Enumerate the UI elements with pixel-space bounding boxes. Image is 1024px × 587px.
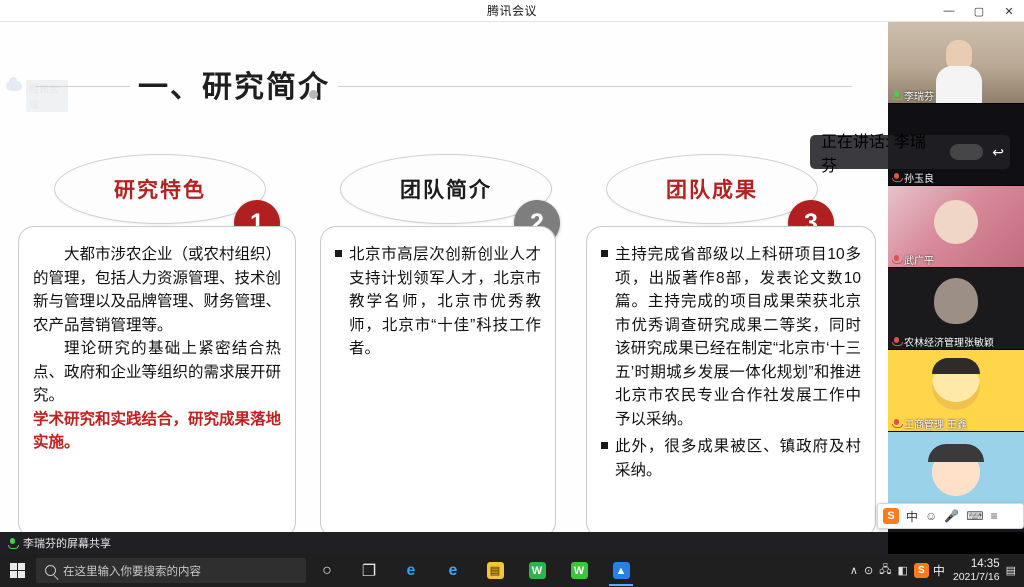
tencent-meeting-glyph: ▲ [613,562,630,579]
column-2-card: 北京市高层次创新创业人才支持计划领军人才，北京市教学名师，北京市优秀教师，北京市… [320,226,556,532]
wechat-glyph: W [571,562,588,579]
tray-ime-mode[interactable]: 中 [933,562,945,579]
speaking-indicator-toast[interactable]: 正在讲话: 李瑞芬 ↩ [810,135,1010,169]
ime-menu-icon[interactable]: ≡ [991,509,998,523]
participant-name-bar-5: 工商管理 王鑫 [888,416,971,431]
back-arrow-icon[interactable]: ↩ [992,144,1004,161]
task-view-glyph: ❐ [362,561,376,581]
column-1-paragraph-3: 学术研究和实践结合，研究成果落地实施。 [33,408,281,455]
close-button[interactable]: ✕ [994,0,1024,22]
bullet-square-icon [601,243,615,431]
screen-share-status-text: 李瑞芬的屏幕共享 [23,535,111,551]
heading-dot-icon [309,90,318,99]
taskbar-clock[interactable]: 14:35 2021/7/16 [953,557,1000,585]
column-3-bubble: 团队成果 [606,154,818,224]
ime-voice-icon[interactable]: 🎤 [944,509,959,523]
audio-wave-icon [950,144,983,160]
slide-heading-text: 一、研究简介 [130,62,338,106]
tray-overflow-icon[interactable]: ∧ [850,564,858,577]
window-title: 腾讯会议 [487,2,537,19]
sogou-logo-icon[interactable]: S [883,508,899,524]
ime-mode-label[interactable]: 中 [906,508,918,525]
edge-legacy-icon[interactable]: e [390,554,432,587]
screen-share-status-bar: 李瑞芬的屏幕共享 [0,532,888,554]
mic-icon [892,91,901,100]
tray-sogou-icon[interactable]: S [914,563,929,578]
participant-name-bar-4: 农林经济管理张敏颖 [888,334,998,349]
column-1-paragraph-1: 大都市涉农企业（或农村组织）的管理，包括人力资源管理、技术创新与管理以及品牌管理… [33,243,281,337]
cortana-icon[interactable]: ○ [306,554,348,587]
slide-heading: 一、研究简介 [0,62,888,106]
cortana-glyph: ○ [322,562,332,580]
column-1-card: 大都市涉农企业（或农村组织）的管理，包括人力资源管理、技术创新与管理以及品牌管理… [18,226,296,532]
participant-tile-4[interactable]: 农林经济管理张敏颖 [888,268,1024,350]
file-explorer-icon[interactable]: ▤ [474,554,516,587]
column-2-title: 团队简介 [400,174,492,204]
clock-time: 14:35 [971,557,1000,571]
ime-keyboard-icon[interactable]: ⌨ [966,509,983,523]
participant-name-3: 武广平 [904,252,934,267]
participant-tile-1[interactable]: 李瑞芬 [888,22,1024,104]
column-2-bullet-1-text: 北京市高层次创新创业人才支持计划领军人才，北京市教学名师，北京市优秀教师，北京市… [349,243,541,361]
participant-name-5: 工商管理 王鑫 [904,416,967,431]
ime-emoji-icon[interactable]: ☺ [925,509,937,523]
window-title-bar: 腾讯会议 — ▢ ✕ [0,0,1024,22]
wechat-icon[interactable]: W [558,554,600,587]
tencent-meeting-icon[interactable]: ▲ [600,554,642,587]
tray-ime-indicator[interactable]: S 中 [914,562,945,579]
task-view-icon[interactable]: ❐ [348,554,390,587]
mic-green-icon [8,538,18,549]
tray-volume-icon[interactable]: ◧ [897,564,907,577]
column-3-bullet-1-text: 主持完成省部级以上科研项目10多项，出版著作8部，发表论文数10篇。主持完成的项… [615,243,861,431]
column-3-title: 团队成果 [666,174,758,204]
participant-name-bar-3: 武广平 [888,252,938,267]
participant-video-6 [888,432,1024,513]
taskbar-search-placeholder: 在这里输入你要搜索的内容 [63,563,201,579]
edge-legacy-glyph: e [407,562,416,580]
column-3-bullet-2-text: 此外，很多成果被区、镇政府及村采纳。 [615,435,861,482]
wps-icon[interactable]: W [516,554,558,587]
participant-tile-3[interactable]: 武广平 [888,186,1024,268]
bullet-square-icon [335,243,349,361]
participants-panel: 李瑞芬 孙玉良 武广平 农林经济管理张敏颖 [888,22,1024,532]
column-3-bullet-1: 主持完成省部级以上科研项目10多项，出版著作8部，发表论文数10篇。主持完成的项… [601,243,861,431]
speaking-indicator-text: 正在讲话: 李瑞芬 [821,128,940,176]
column-2-bullet-1: 北京市高层次创新创业人才支持计划领军人才，北京市教学名师，北京市优秀教师，北京市… [335,243,541,361]
column-1-paragraph-2: 理论研究的基础上紧密结合热点、政府和企业等组织的需求展开研究。 [33,337,281,408]
file-explorer-glyph: ▤ [487,562,504,579]
column-3-card: 主持完成省部级以上科研项目10多项，出版著作8部，发表论文数10篇。主持完成的项… [586,226,876,532]
participant-name-1: 李瑞芬 [904,88,934,103]
participant-name-4: 农林经济管理张敏颖 [904,334,994,349]
column-3-bullet-2: 此外，很多成果被区、镇政府及村采纳。 [601,435,861,482]
slide-column-2: 团队简介 2 北京市高层次创新创业人才支持计划领军人才，北京市教学名师，北京市优… [312,154,592,532]
presentation-slide: 腾讯会议 一、研究简介 研究特色 1 大都市涉农企业（或农村组织）的管理，包括人… [0,22,888,532]
slide-column-3: 团队成果 3 主持完成省部级以上科研项目10多项，出版著作8部，发表论文数10篇… [578,154,858,532]
bullet-square-icon [601,435,615,482]
windows-start-icon[interactable] [0,554,34,587]
column-1-title: 研究特色 [114,174,206,204]
tray-network-icon[interactable]: 🖧 [879,561,891,580]
tray-cloud-icon[interactable]: ⊙ [864,564,873,577]
system-tray: ∧ ⊙ 🖧 ◧ S 中 14:35 2021/7/16 ▤ [850,554,1024,587]
column-1-bubble: 研究特色 [54,154,266,224]
minimize-button[interactable]: — [934,0,964,22]
clock-date: 2021/7/16 [953,571,1000,584]
shared-screen-stage: 腾讯会议 一、研究简介 研究特色 1 大都市涉农企业（或农村组织）的管理，包括人… [0,22,888,532]
taskbar-search-input[interactable]: 在这里输入你要搜索的内容 [36,558,306,583]
participant-tile-6[interactable] [888,432,1024,514]
slide-column-1: 研究特色 1 大都市涉农企业（或农村组织）的管理，包括人力资源管理、技术创新与管… [10,154,290,532]
app-root: 腾讯会议 — ▢ ✕ 腾讯会议 一、研究简介 研究特色 1 [0,0,1024,587]
search-icon [45,565,56,576]
ime-floating-bar[interactable]: S 中 ☺ 🎤 ⌨ ≡ [877,503,1024,529]
window-controls: — ▢ ✕ [934,0,1024,22]
participant-name-bar-1: 李瑞芬 [888,88,938,103]
wps-glyph: W [529,562,546,579]
participant-tile-5[interactable]: 工商管理 王鑫 [888,350,1024,432]
maximize-button[interactable]: ▢ [964,0,994,22]
windows-logo-icon [10,563,25,578]
mic-muted-icon [892,419,901,428]
edge-glyph: e [449,562,458,580]
mic-muted-icon [892,337,901,346]
notification-icon[interactable]: ▤ [1006,564,1016,577]
edge-icon[interactable]: e [432,554,474,587]
mic-muted-icon [892,255,901,264]
